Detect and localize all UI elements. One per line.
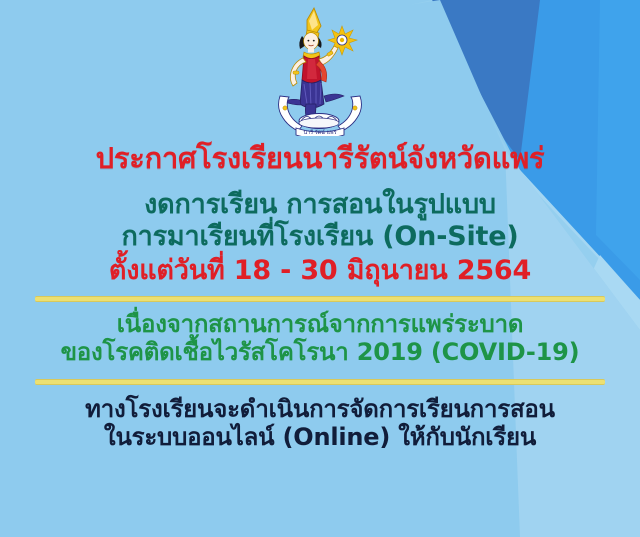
school-emblem-icon: นารี รัตน์ แพร่: [274, 4, 366, 136]
announcement-poster: นารี รัตน์ แพร่ ประกาศโรงเรียนนารีรัตน์จ…: [0, 0, 640, 537]
action-line-2: ในระบบออนไลน์ (Online) ให้กับนักเรียน: [0, 423, 640, 451]
poster-headline: ประกาศโรงเรียนนารีรัตน์จังหวัดแพร่: [0, 140, 640, 174]
emblem-motto: นารี รัตน์ แพร่: [303, 129, 336, 136]
lotus-base: [299, 114, 339, 129]
face: [304, 33, 319, 50]
date-range: ตั้งแต่วันที่ 18 - 30 มิถุนายน 2564: [0, 252, 640, 285]
notice-line-1: งดการเรียน การสอนในรูปแบบ: [0, 174, 640, 219]
action-line-1: ทางโรงเรียนจะดำเนินการจัดการเรียนการสอน: [0, 385, 640, 423]
reason-line-2: ของโรคติดเชื้อไวรัสโคโรนา 2019 (COVID-19…: [0, 338, 640, 366]
school-logo: นารี รัตน์ แพร่: [0, 4, 640, 140]
poster-content: ประกาศโรงเรียนนารีรัตน์จังหวัดแพร่ งดการ…: [0, 140, 640, 450]
notice-line-2: การมาเรียนที่โรงเรียน (On-Site): [0, 219, 640, 251]
flourish-right: [324, 94, 344, 102]
reason-line-1: เนื่องจากสถานการณ์จากการแพร่ระบาด: [0, 302, 640, 338]
